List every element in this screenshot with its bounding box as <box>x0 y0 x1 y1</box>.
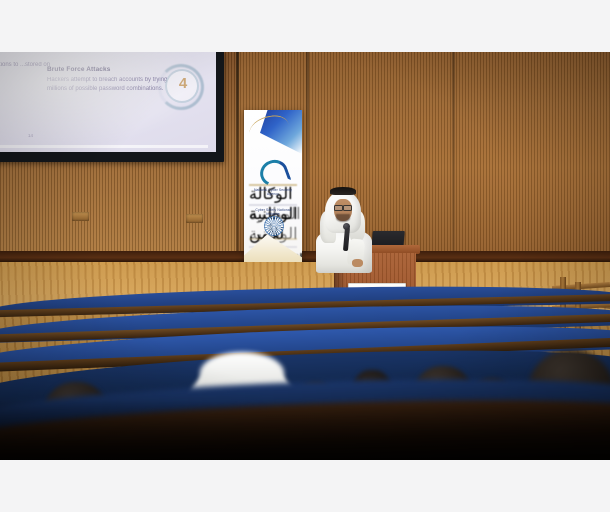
glasses-icon <box>334 205 352 209</box>
banner-logo-arabic: الوكالة الوطنية للأمن السيبراني <box>249 184 297 186</box>
wall-seam <box>306 52 309 262</box>
rollup-banner: الوكالة الوطنية للأمن السيبراني National… <box>244 110 302 274</box>
wall-seam <box>452 52 455 262</box>
slide-step-number: 4 <box>174 74 192 94</box>
banner-logo <box>256 158 288 182</box>
wall-seam <box>236 52 239 262</box>
slide-cutoff-text: ...titutions to ...stored on <box>0 60 52 70</box>
wall-outlet-right <box>186 214 203 223</box>
photograph: ...titutions to ...stored on Brute Force… <box>0 52 610 460</box>
microphone-head-icon <box>343 223 350 230</box>
national-seal-icon <box>264 216 284 236</box>
projection-screen-frame: ...titutions to ...stored on Brute Force… <box>0 52 224 162</box>
banner-initiative-en: Cyber Safety National Initiative <box>249 208 297 216</box>
banner-initiative-arabic: المبادرة الوطنية للأمن السيبراني <box>249 204 297 206</box>
speaker-beard <box>336 214 350 222</box>
agal-cord <box>330 187 356 195</box>
slide-footer-bar <box>0 145 208 148</box>
banner-swoosh-icon <box>248 114 291 146</box>
speaker-hand <box>352 259 363 267</box>
screenshot-root: ...titutions to ...stored on Brute Force… <box>0 0 610 512</box>
speaker-person <box>312 187 374 267</box>
banner-organization-en: National Cyber Security Agency <box>249 188 297 196</box>
wall-outlet-left <box>72 212 89 221</box>
slide-page-number: 14 <box>28 133 33 138</box>
slide-heading: Brute Force Attacks <box>47 66 175 73</box>
slide-body: Hackers attempt to breach accounts by tr… <box>47 76 175 94</box>
bottom-margin <box>0 460 610 512</box>
wall-baseboard <box>0 251 610 262</box>
projection-screen: ...titutions to ...stored on Brute Force… <box>0 52 216 152</box>
slide-text-block: Brute Force Attacks Hackers attempt to b… <box>47 66 175 94</box>
